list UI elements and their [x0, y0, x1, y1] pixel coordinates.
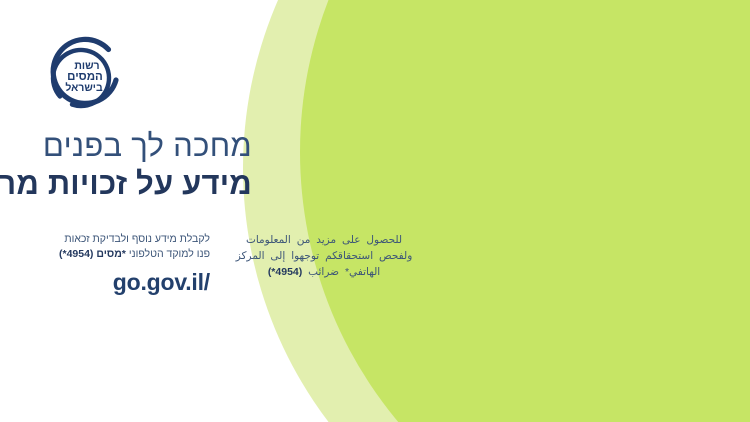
- logo-line-3: בישראל: [65, 82, 103, 94]
- page-title: מחכה לך בפנים מידע על זכויות מרשות המסים: [0, 128, 252, 202]
- arabic-phone-number: (4954*): [268, 266, 302, 278]
- israel-tax-authority-logo: רשות המסים בישראל: [46, 36, 124, 114]
- headline-line-2: מידע על זכויות מרשות המסים: [0, 166, 252, 203]
- arabic-contact-line-2: ولفحص استحقاقكم توجهوا إلى المركز: [234, 249, 414, 265]
- website-url[interactable]: go.gov.il/: [59, 269, 210, 296]
- arabic-contact-line-1: للحصول على مزيد من المعلومات: [234, 233, 414, 249]
- contact-info-hebrew: לקבלת מידע נוסף ולבדיקת זכאות פנו למוקד …: [59, 232, 210, 296]
- arabic-contact-prefix: الهاتفي* ضرائب: [302, 266, 380, 278]
- hebrew-contact-line-2: פנו למוקד הטלפוני *מסים (4954*): [59, 247, 210, 262]
- hebrew-contact-prefix: פנו למוקד הטלפוני: [126, 248, 210, 260]
- arabic-contact-line-3: الهاتفي* ضرائب (4954*): [234, 265, 414, 281]
- pale-green-circle: [243, 0, 750, 422]
- tax-authority-banner: רשות המסים בישראל מחכה לך בפנים מידע על …: [0, 0, 750, 422]
- contact-info-arabic: للحصول على مزيد من المعلومات ولفحص استحق…: [234, 233, 414, 280]
- hebrew-contact-line-1: לקבלת מידע נוסף ולבדיקת זכאות: [59, 232, 210, 247]
- bright-green-circle: [300, 0, 750, 422]
- headline-line-1: מחכה לך בפנים: [0, 128, 252, 165]
- hebrew-phone-number: *מסים (4954*): [59, 248, 126, 260]
